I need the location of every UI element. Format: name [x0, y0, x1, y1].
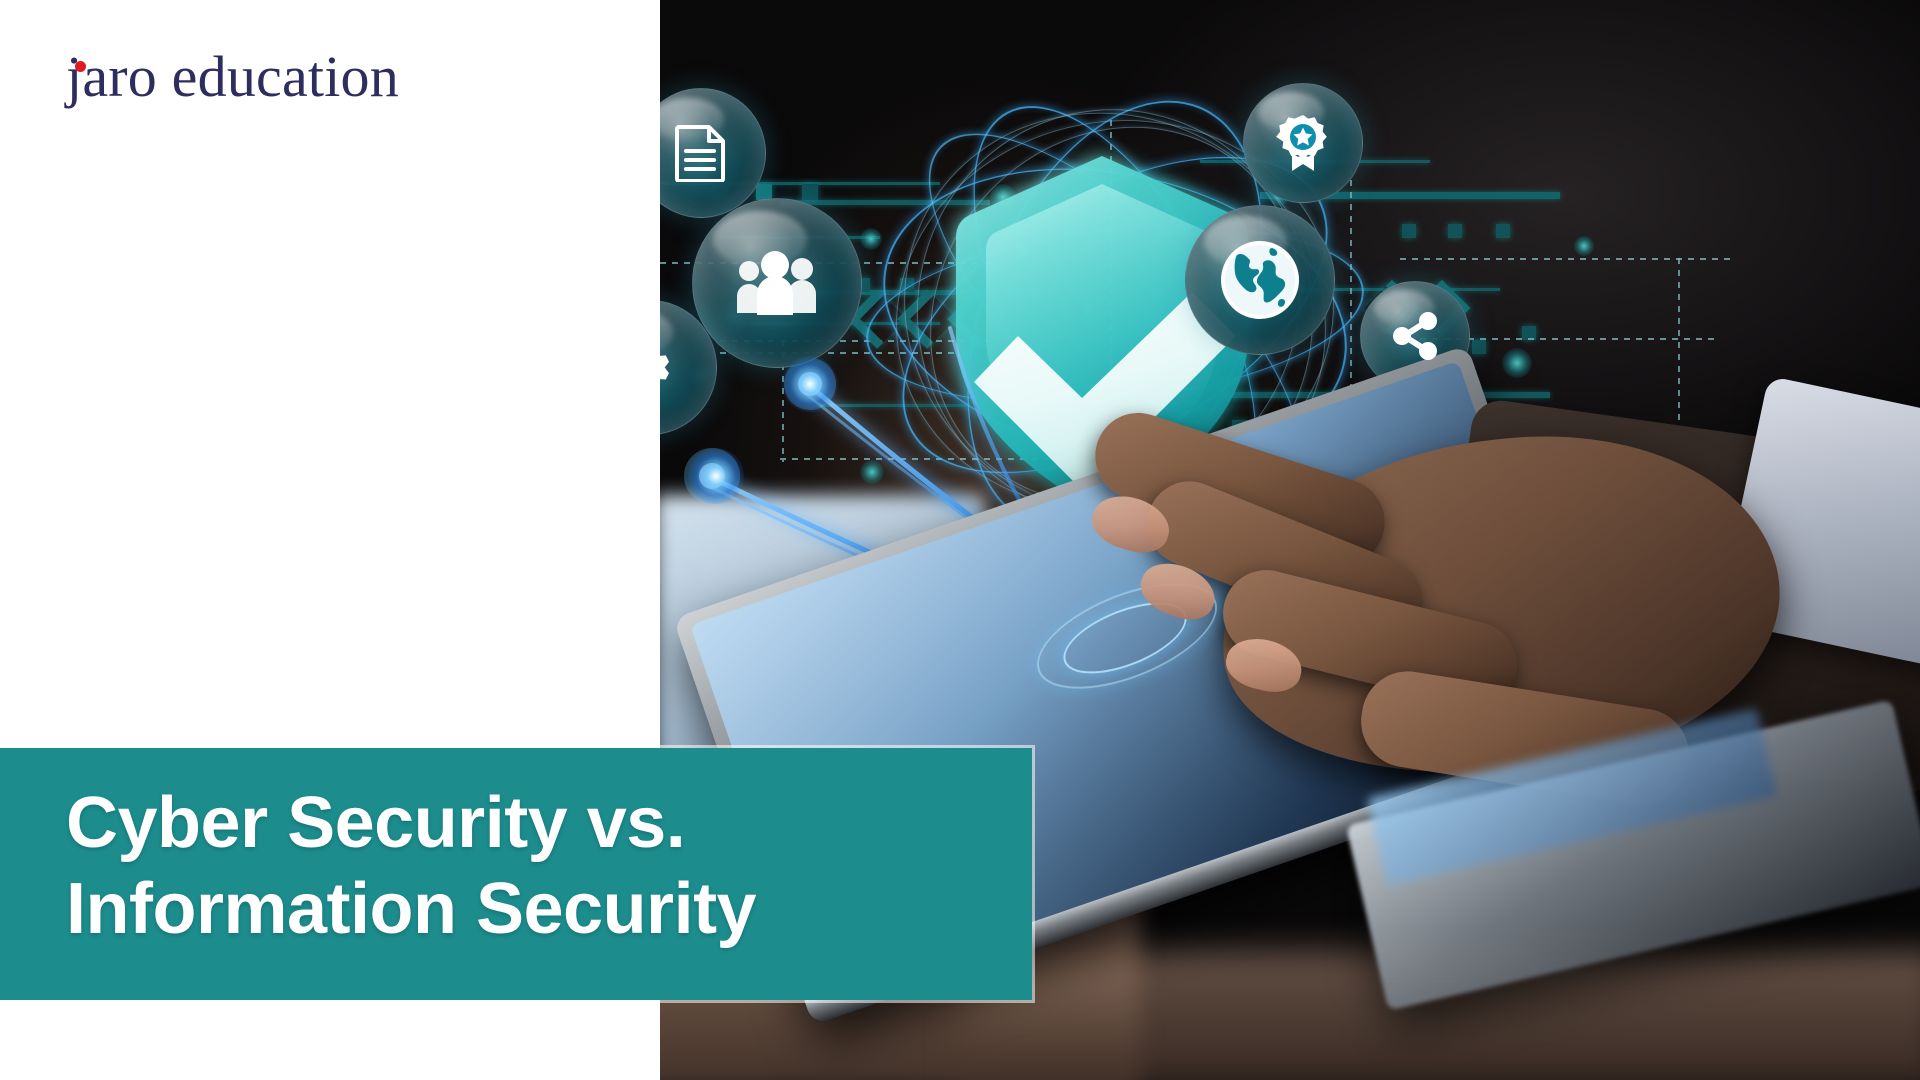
node-glow-users — [782, 356, 838, 412]
share-icon — [1389, 310, 1441, 362]
page-title: Cyber Security vs. Information Security — [66, 780, 1008, 952]
node-glow-gear — [688, 448, 744, 504]
users-icon — [734, 249, 820, 317]
gear-icon — [660, 337, 681, 399]
brand-logo[interactable]: jaro education — [66, 48, 399, 106]
sphere-award[interactable] — [1243, 83, 1363, 203]
sphere-users[interactable] — [692, 198, 862, 368]
poster-canvas: jaro education Cyber Security vs. Inform… — [0, 0, 1920, 1080]
red-dot-icon — [75, 61, 86, 72]
banner-bottom-whitespace — [0, 1000, 660, 1080]
globe-icon — [1219, 239, 1301, 321]
brand-logo-text: jaro education — [66, 44, 399, 109]
title-banner: Cyber Security vs. Information Security — [0, 748, 1032, 1000]
award-icon — [1275, 113, 1331, 173]
document-icon — [674, 124, 728, 182]
sphere-globe[interactable] — [1185, 205, 1335, 355]
